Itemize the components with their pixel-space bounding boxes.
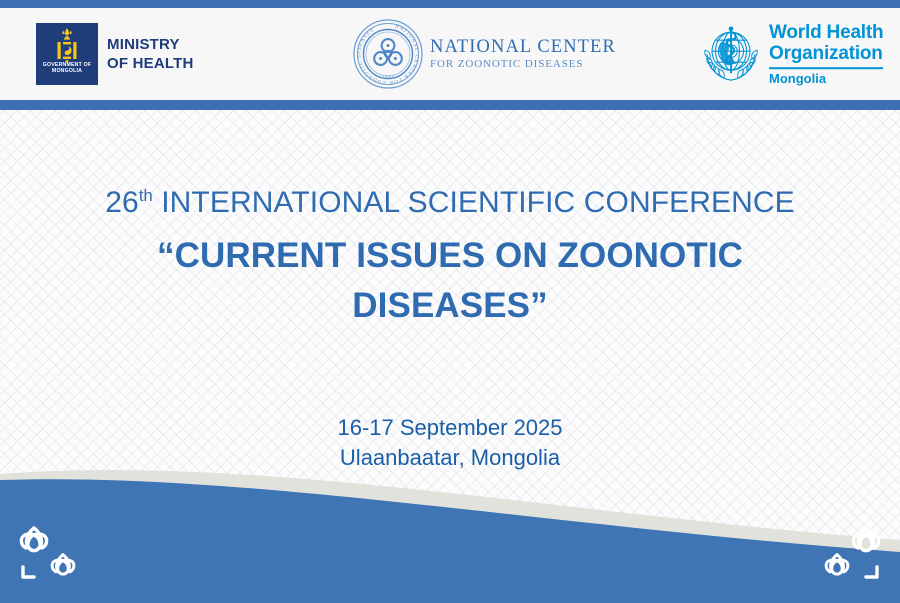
who-label-line1: World Health — [769, 22, 883, 43]
conference-theme-title: “CURRENT ISSUES ON ZOONOTIC DISEASES” — [60, 231, 840, 331]
logo-row: GOVERNMENT OFMONGOLIA MINISTRY OF HEALTH… — [0, 8, 900, 100]
conference-ordinal: 26 — [105, 186, 139, 219]
zoonotic-trefoil-seal-icon: NATIONAL CENTER FOR ZOONOTIC DISEASES 19… — [352, 18, 424, 90]
conference-title: 26th INTERNATIONAL SCIENTIFIC CONFERENCE — [0, 176, 900, 223]
svg-text:1931: 1931 — [382, 76, 394, 81]
conference-title-rest: INTERNATIONAL SCIENTIFIC CONFERENCE — [153, 186, 795, 219]
who-divider — [769, 67, 883, 69]
mongolia-soyombo-emblem-icon: GOVERNMENT OFMONGOLIA — [36, 23, 98, 85]
nczd-logo: NATIONAL CENTER FOR ZOONOTIC DISEASES 19… — [352, 18, 616, 90]
who-label-line2: Organization — [769, 43, 883, 64]
moh-label-line1: MINISTRY — [107, 35, 194, 54]
conference-meta: 16-17 September 2025 Ulaanbaatar, Mongol… — [0, 413, 900, 473]
conference-date: 16-17 September 2025 — [0, 413, 900, 443]
moh-emblem-caption: GOVERNMENT OFMONGOLIA — [36, 62, 98, 75]
nczd-label-line2: FOR ZOONOTIC DISEASES — [430, 57, 616, 71]
triquetra-knot-ornament-right-icon — [808, 523, 886, 585]
triquetra-knot-ornament-left-icon — [14, 523, 92, 585]
moh-label-line2: OF HEALTH — [107, 54, 194, 73]
slide-canvas: GOVERNMENT OFMONGOLIA MINISTRY OF HEALTH… — [0, 0, 900, 603]
nczd-label: NATIONAL CENTER FOR ZOONOTIC DISEASES — [430, 37, 616, 71]
who-label: World Health Organization Mongolia — [769, 22, 883, 86]
conference-ordinal-suffix: th — [139, 187, 153, 205]
header-top-rule — [0, 0, 900, 8]
wave-divider — [0, 468, 900, 603]
ministry-of-health-label: MINISTRY OF HEALTH — [107, 35, 194, 73]
header-bottom-rule — [0, 100, 900, 110]
ministry-of-health-logo: GOVERNMENT OFMONGOLIA MINISTRY OF HEALTH — [36, 23, 194, 85]
who-logo: World Health Organization Mongolia — [700, 22, 883, 86]
who-country-label: Mongolia — [769, 71, 883, 86]
who-emblem-icon — [700, 23, 762, 85]
nczd-label-line1: NATIONAL CENTER — [430, 37, 616, 57]
